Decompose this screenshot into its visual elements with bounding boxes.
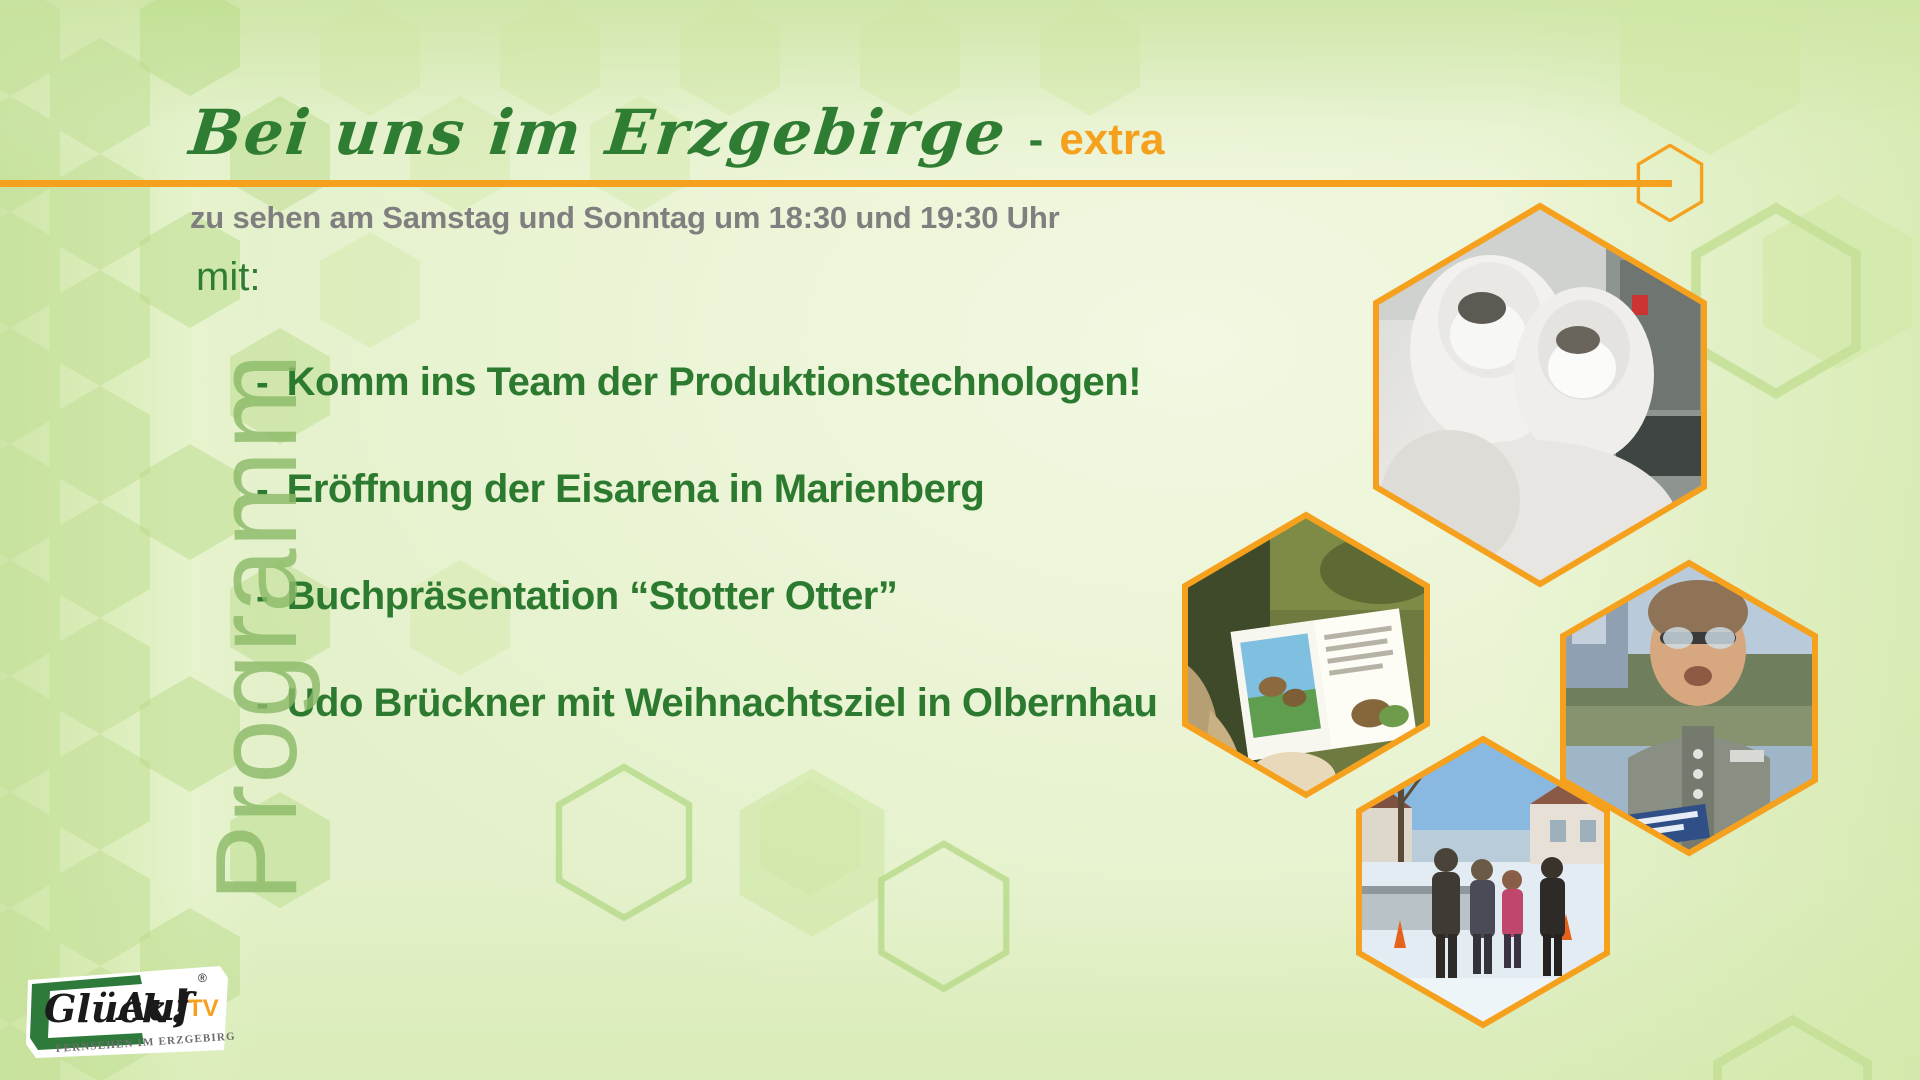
title-script-text: Bei uns im Erzgebirge (186, 96, 1010, 169)
slide-canvas: Bei uns im Erzgebirge - extra zu sehen a… (0, 0, 1920, 1080)
photo-hex-ice-rink-skaters (1354, 734, 1612, 1030)
broadcast-times-subtitle: zu sehen am Samstag und Sonntag um 18:30… (190, 200, 1059, 236)
title-extra-word: extra (1059, 115, 1164, 165)
list-item-label: Eröffnung der Eisarena in Marienberg (287, 467, 985, 512)
glueckauf-tv-logo[interactable]: Glück Auf ! ® TV FERNSEHEN IM ERZGEBIRGE (22, 960, 234, 1064)
orange-divider-rule (0, 180, 1672, 187)
photo-hexagon-cluster (1190, 200, 1890, 1020)
logo-tv-badge: TV (188, 995, 219, 1022)
bullet-dash-icon: - (256, 576, 269, 619)
list-item: - Udo Brückner mit Weihnachtsziel in Olb… (256, 681, 1157, 726)
title-dash: - (1007, 115, 1060, 165)
list-item-label: Buchpräsentation “Stotter Otter” (287, 574, 898, 619)
list-item-label: Komm ins Team der Produktionstechnologen… (287, 360, 1141, 405)
slide-title: Bei uns im Erzgebirge - extra (190, 96, 1165, 169)
bullet-dash-icon: - (256, 683, 269, 726)
list-item: - Eröffnung der Eisarena in Marienberg (256, 467, 1157, 512)
list-item: - Komm ins Team der Produktionstechnolog… (256, 360, 1157, 405)
list-item-label: Udo Brückner mit Weihnachtsziel in Olber… (287, 681, 1158, 726)
with-label: mit: (196, 255, 260, 300)
bullet-dash-icon: - (256, 469, 269, 512)
bullet-dash-icon: - (256, 362, 269, 405)
program-list: - Komm ins Team der Produktionstechnolog… (256, 360, 1157, 726)
logo-registered-icon: ® (198, 971, 207, 985)
list-item: - Buchpräsentation “Stotter Otter” (256, 574, 1157, 619)
